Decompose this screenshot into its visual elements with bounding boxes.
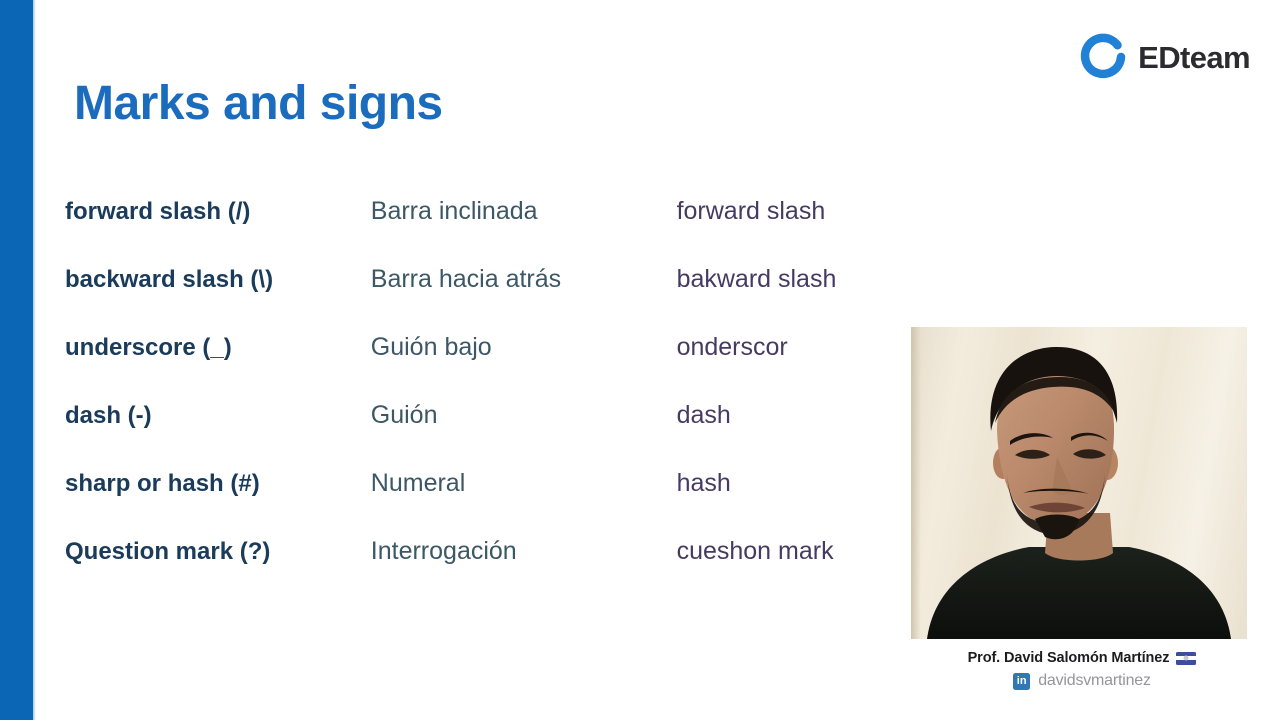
- term-cell: underscore (_): [65, 334, 371, 363]
- edteam-brand: EDteam: [1078, 32, 1250, 82]
- table-row: backward slash (\) Barra hacia atrás bak…: [65, 264, 925, 332]
- term-cell: dash (-): [65, 402, 371, 431]
- linkedin-handle[interactable]: davidsvmartinez: [1038, 672, 1151, 690]
- spanish-cell: Guión bajo: [371, 332, 677, 362]
- flag-el-salvador-icon: [1176, 652, 1196, 665]
- spanish-cell: Barra inclinada: [371, 196, 677, 226]
- linkedin-row[interactable]: in davidsvmartinez: [912, 672, 1252, 690]
- edteam-ring-logo-icon: [1078, 32, 1128, 82]
- left-accent-bar-edge: [33, 0, 36, 720]
- phonetic-cell: forward slash: [677, 196, 925, 226]
- spanish-cell: Barra hacia atrás: [371, 264, 677, 294]
- presenter-name-row: Prof. David Salomón Martínez: [912, 650, 1252, 666]
- spanish-cell: Numeral: [371, 468, 677, 498]
- phonetic-cell: bakward slash: [677, 264, 925, 294]
- term-cell: backward slash (\): [65, 266, 371, 295]
- phonetic-cell: cueshon mark: [677, 536, 925, 566]
- presenter-portrait: [911, 327, 1247, 639]
- table-row: Question mark (?) Interrogación cueshon …: [65, 536, 925, 604]
- presenter-credit: Prof. David Salomón Martínez in davidsvm…: [912, 650, 1252, 690]
- slide: EDteam Marks and signs forward slash (/)…: [0, 0, 1280, 720]
- term-cell: Question mark (?): [65, 538, 371, 567]
- linkedin-icon[interactable]: in: [1013, 673, 1030, 690]
- table-row: dash (-) Guión dash: [65, 400, 925, 468]
- table-row: sharp or hash (#) Numeral hash: [65, 468, 925, 536]
- spanish-cell: Guión: [371, 400, 677, 430]
- left-accent-bar: [0, 0, 33, 720]
- vocabulary-table: forward slash (/) Barra inclinada forwar…: [65, 196, 925, 604]
- table-row: forward slash (/) Barra inclinada forwar…: [65, 196, 925, 264]
- edteam-wordmark: EDteam: [1138, 42, 1250, 73]
- phonetic-cell: dash: [677, 400, 925, 430]
- page-title: Marks and signs: [74, 76, 443, 131]
- table-row: underscore (_) Guión bajo onderscor: [65, 332, 925, 400]
- presenter-video-feed: [911, 327, 1247, 639]
- presenter-name: Prof. David Salomón Martínez: [968, 650, 1170, 666]
- phonetic-cell: hash: [677, 468, 925, 498]
- phonetic-cell: onderscor: [677, 332, 925, 362]
- term-cell: forward slash (/): [65, 198, 371, 227]
- spanish-cell: Interrogación: [371, 536, 677, 566]
- term-cell: sharp or hash (#): [65, 470, 371, 499]
